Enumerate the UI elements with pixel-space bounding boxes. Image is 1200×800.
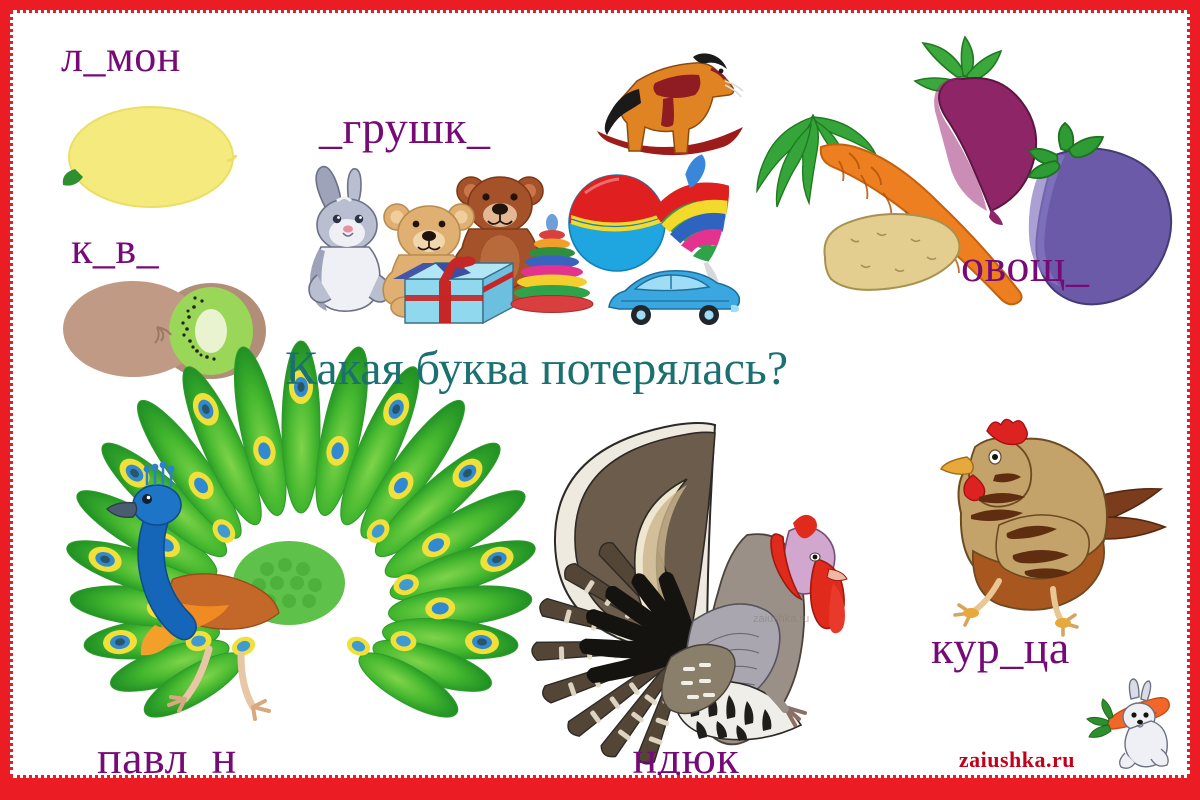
word-chicken: кур_ца: [931, 621, 1070, 674]
word-toys: _грушк_: [319, 101, 491, 154]
page-title: Какая буква потерялась?: [285, 341, 788, 396]
word-peacock: павл_н: [97, 731, 237, 778]
site-watermark-text: zaiushka.ru: [959, 749, 1075, 771]
lemon-illustration: [51, 91, 241, 221]
toy-car-illustration: [605, 265, 741, 327]
word-turkey: _ндюк: [609, 731, 739, 778]
peacock-illustration: [91, 393, 511, 738]
gift-box-illustration: [399, 251, 519, 329]
word-vegetables: овощ_: [961, 239, 1089, 292]
bunny-carrot-logo-icon: [1077, 675, 1173, 771]
turkey-illustration: [537, 405, 867, 745]
potato-illustration: [815, 209, 965, 295]
word-lemon: л_мон: [61, 31, 181, 82]
word-kiwi: к_в_: [71, 223, 159, 274]
poster-sheet: л_мон к_в_ _грушк_: [10, 10, 1190, 778]
rocking-horse-illustration: [585, 35, 755, 165]
turkey-watermark: zaiushka.ru: [753, 613, 809, 625]
hen-illustration: [903, 405, 1190, 635]
site-watermark: zaiushka.ru: [959, 675, 1173, 771]
poster-page: л_мон к_в_ _грушк_: [0, 0, 1200, 800]
